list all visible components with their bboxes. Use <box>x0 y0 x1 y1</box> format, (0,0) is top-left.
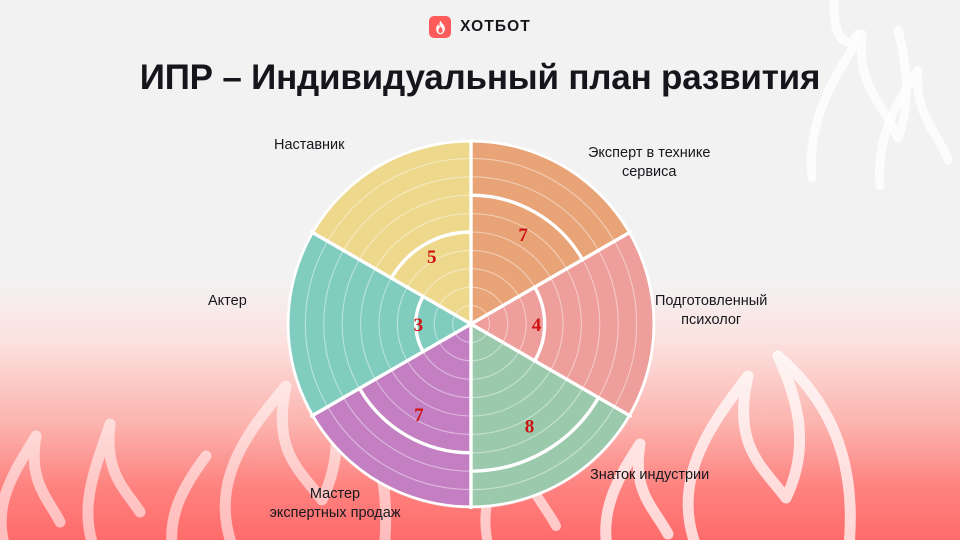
segment-label-master: Мастер экспертных продаж <box>236 485 434 522</box>
page-title: ИПР – Индивидуальный план развития <box>0 58 960 98</box>
segment-value-label: 8 <box>525 416 535 437</box>
segment-label-nastavnik: Наставник <box>274 136 344 155</box>
logo-text: ХОТБОТ <box>460 18 531 36</box>
flame-icon <box>429 16 451 38</box>
wheel-of-balance-chart: 748735 <box>286 139 656 509</box>
segment-label-psiholog: Подготовленный психолог <box>655 292 767 329</box>
segment-label-akter: Актер <box>208 292 247 311</box>
segment-value-label: 4 <box>532 315 542 336</box>
segment-label-expert: Эксперт в технике сервиса <box>588 144 710 181</box>
segment-value-label: 3 <box>414 315 424 336</box>
brand-logo: ХОТБОТ <box>0 14 960 40</box>
segment-label-industriya: Знаток индустрии <box>590 466 709 485</box>
segment-value-label: 7 <box>414 405 424 426</box>
segment-value-label: 5 <box>427 247 437 268</box>
slide-canvas: ХОТБОТ ИПР – Индивидуальный план развити… <box>0 0 960 540</box>
segment-value-label: 7 <box>518 225 528 246</box>
